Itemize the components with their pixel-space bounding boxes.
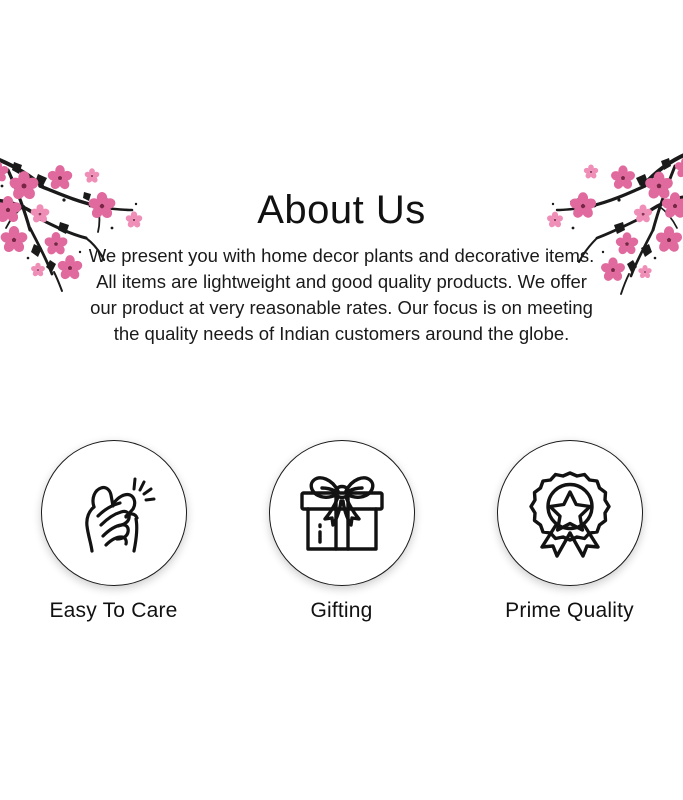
- snapping-fingers-icon: [64, 463, 164, 563]
- feature-list: Easy To Care: [0, 440, 683, 624]
- about-us-page: About Us We present you with home decor …: [0, 0, 683, 800]
- page-title: About Us: [0, 186, 683, 234]
- feature-label-prime-quality: Prime Quality: [505, 598, 634, 624]
- about-description-line: All items are lightweight and good quali…: [78, 269, 605, 295]
- feature-item-prime-quality[interactable]: Prime Quality: [497, 440, 643, 624]
- feature-label-easy-to-care: Easy To Care: [49, 598, 177, 624]
- about-description-line: the quality needs of Indian customers ar…: [78, 321, 605, 347]
- feature-item-gifting[interactable]: Gifting: [269, 440, 415, 624]
- about-description-line: We present you with home decor plants an…: [78, 243, 605, 269]
- feature-circle-easy-to-care[interactable]: [41, 440, 187, 586]
- feature-circle-prime-quality[interactable]: [497, 440, 643, 586]
- feature-item-easy-to-care[interactable]: Easy To Care: [41, 440, 187, 624]
- about-description-line: our product at very reasonable rates. Ou…: [78, 295, 605, 321]
- gift-box-icon: [292, 463, 392, 563]
- about-description: We present you with home decor plants an…: [0, 243, 683, 347]
- feature-label-gifting: Gifting: [310, 598, 372, 624]
- award-badge-icon: [520, 463, 620, 563]
- feature-circle-gifting[interactable]: [269, 440, 415, 586]
- about-section: About Us We present you with home decor …: [0, 186, 683, 347]
